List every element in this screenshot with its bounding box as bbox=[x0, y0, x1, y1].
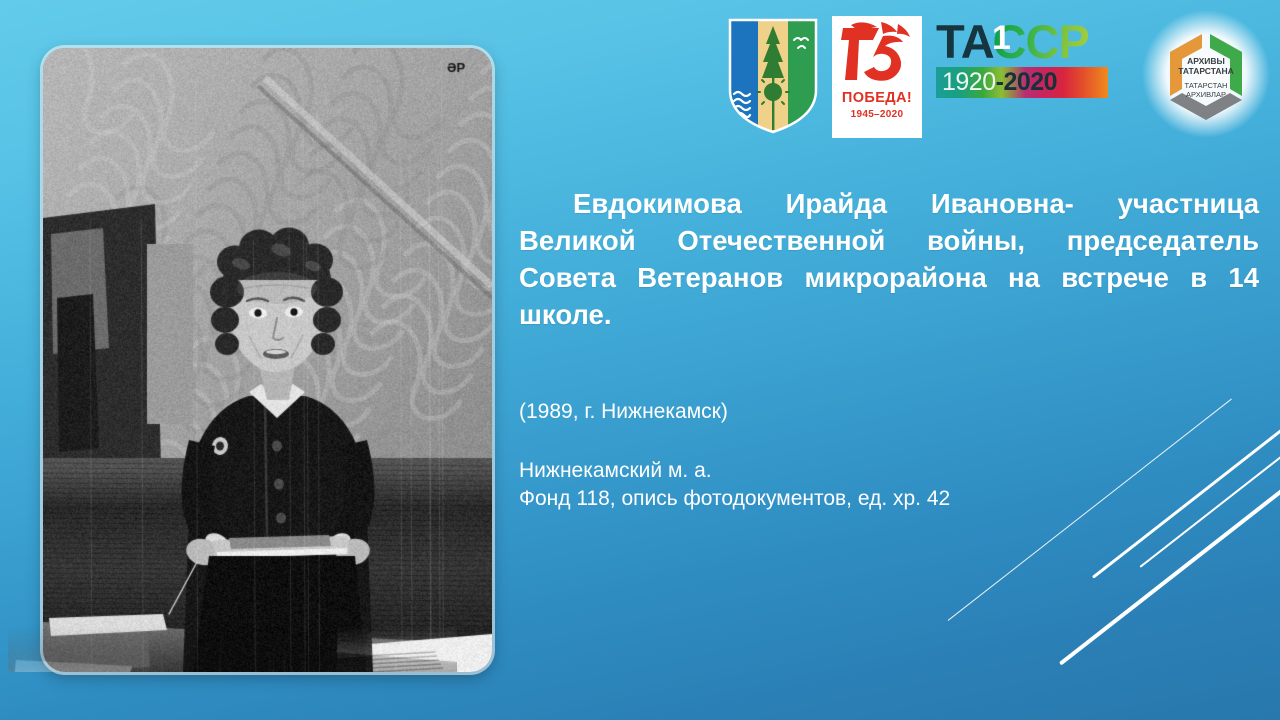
photograph-container bbox=[43, 48, 492, 672]
tassr-overlay-digit: 1 bbox=[992, 21, 1010, 55]
victory-word-label: ПОБЕДА! bbox=[842, 91, 912, 106]
archives-of-tatarstan-logo: АРХИВЫ ТАТАРСТАНА ТАТАРСТАН АРХИВЛАР bbox=[1140, 10, 1272, 138]
archives-label-line3: ТАТАРСТАН bbox=[1185, 81, 1228, 90]
tassr-year-to: 2020 bbox=[1003, 68, 1057, 96]
victory-75-ribbon-icon bbox=[835, 18, 919, 90]
headline-description: Евдокимова Ирайда Ивановна- участница Ве… bbox=[519, 186, 1259, 370]
photograph-image bbox=[43, 48, 492, 672]
victory-75-anniversary-logo: ПОБЕДА! 1945–2020 bbox=[832, 16, 922, 138]
archives-label-line2: ТАТАРСТАНА bbox=[1178, 66, 1234, 76]
text-column: Евдокимова Ирайда Ивановна- участница Ве… bbox=[519, 186, 1259, 513]
archives-label-line1: АРХИВЫ bbox=[1187, 56, 1225, 66]
tassr-year-bar: 1920-2020 bbox=[936, 67, 1108, 98]
tassr-year-from: 1920 bbox=[942, 68, 996, 96]
archive-reference-line2: Фонд 118, опись фотодокументов, ед. хр. … bbox=[519, 485, 1259, 513]
tassr-centenary-logo: ТАССР 1 1920-2020 bbox=[936, 18, 1116, 104]
photograph-reflection bbox=[8, 624, 457, 672]
date-and-place: (1989, г. Нижнекамск) bbox=[519, 398, 1259, 426]
slide-canvas: ПОБЕДА! 1945–2020 ТАССР 1 1920-2020 bbox=[0, 0, 1280, 720]
archives-label-line4: АРХИВЛАР bbox=[1186, 90, 1226, 99]
victory-years-label: 1945–2020 bbox=[851, 110, 904, 120]
tassr-letters: ТАССР 1 bbox=[936, 18, 1116, 66]
tassr-letters-dark: ТА bbox=[936, 15, 993, 68]
nizhnekamsk-coat-of-arms-icon bbox=[728, 18, 818, 134]
archive-reference-line1: Нижнекамский м. а. bbox=[519, 457, 1259, 485]
photograph-frame bbox=[43, 48, 492, 672]
logo-row: ПОБЕДА! 1945–2020 ТАССР 1 1920-2020 bbox=[724, 10, 1276, 138]
